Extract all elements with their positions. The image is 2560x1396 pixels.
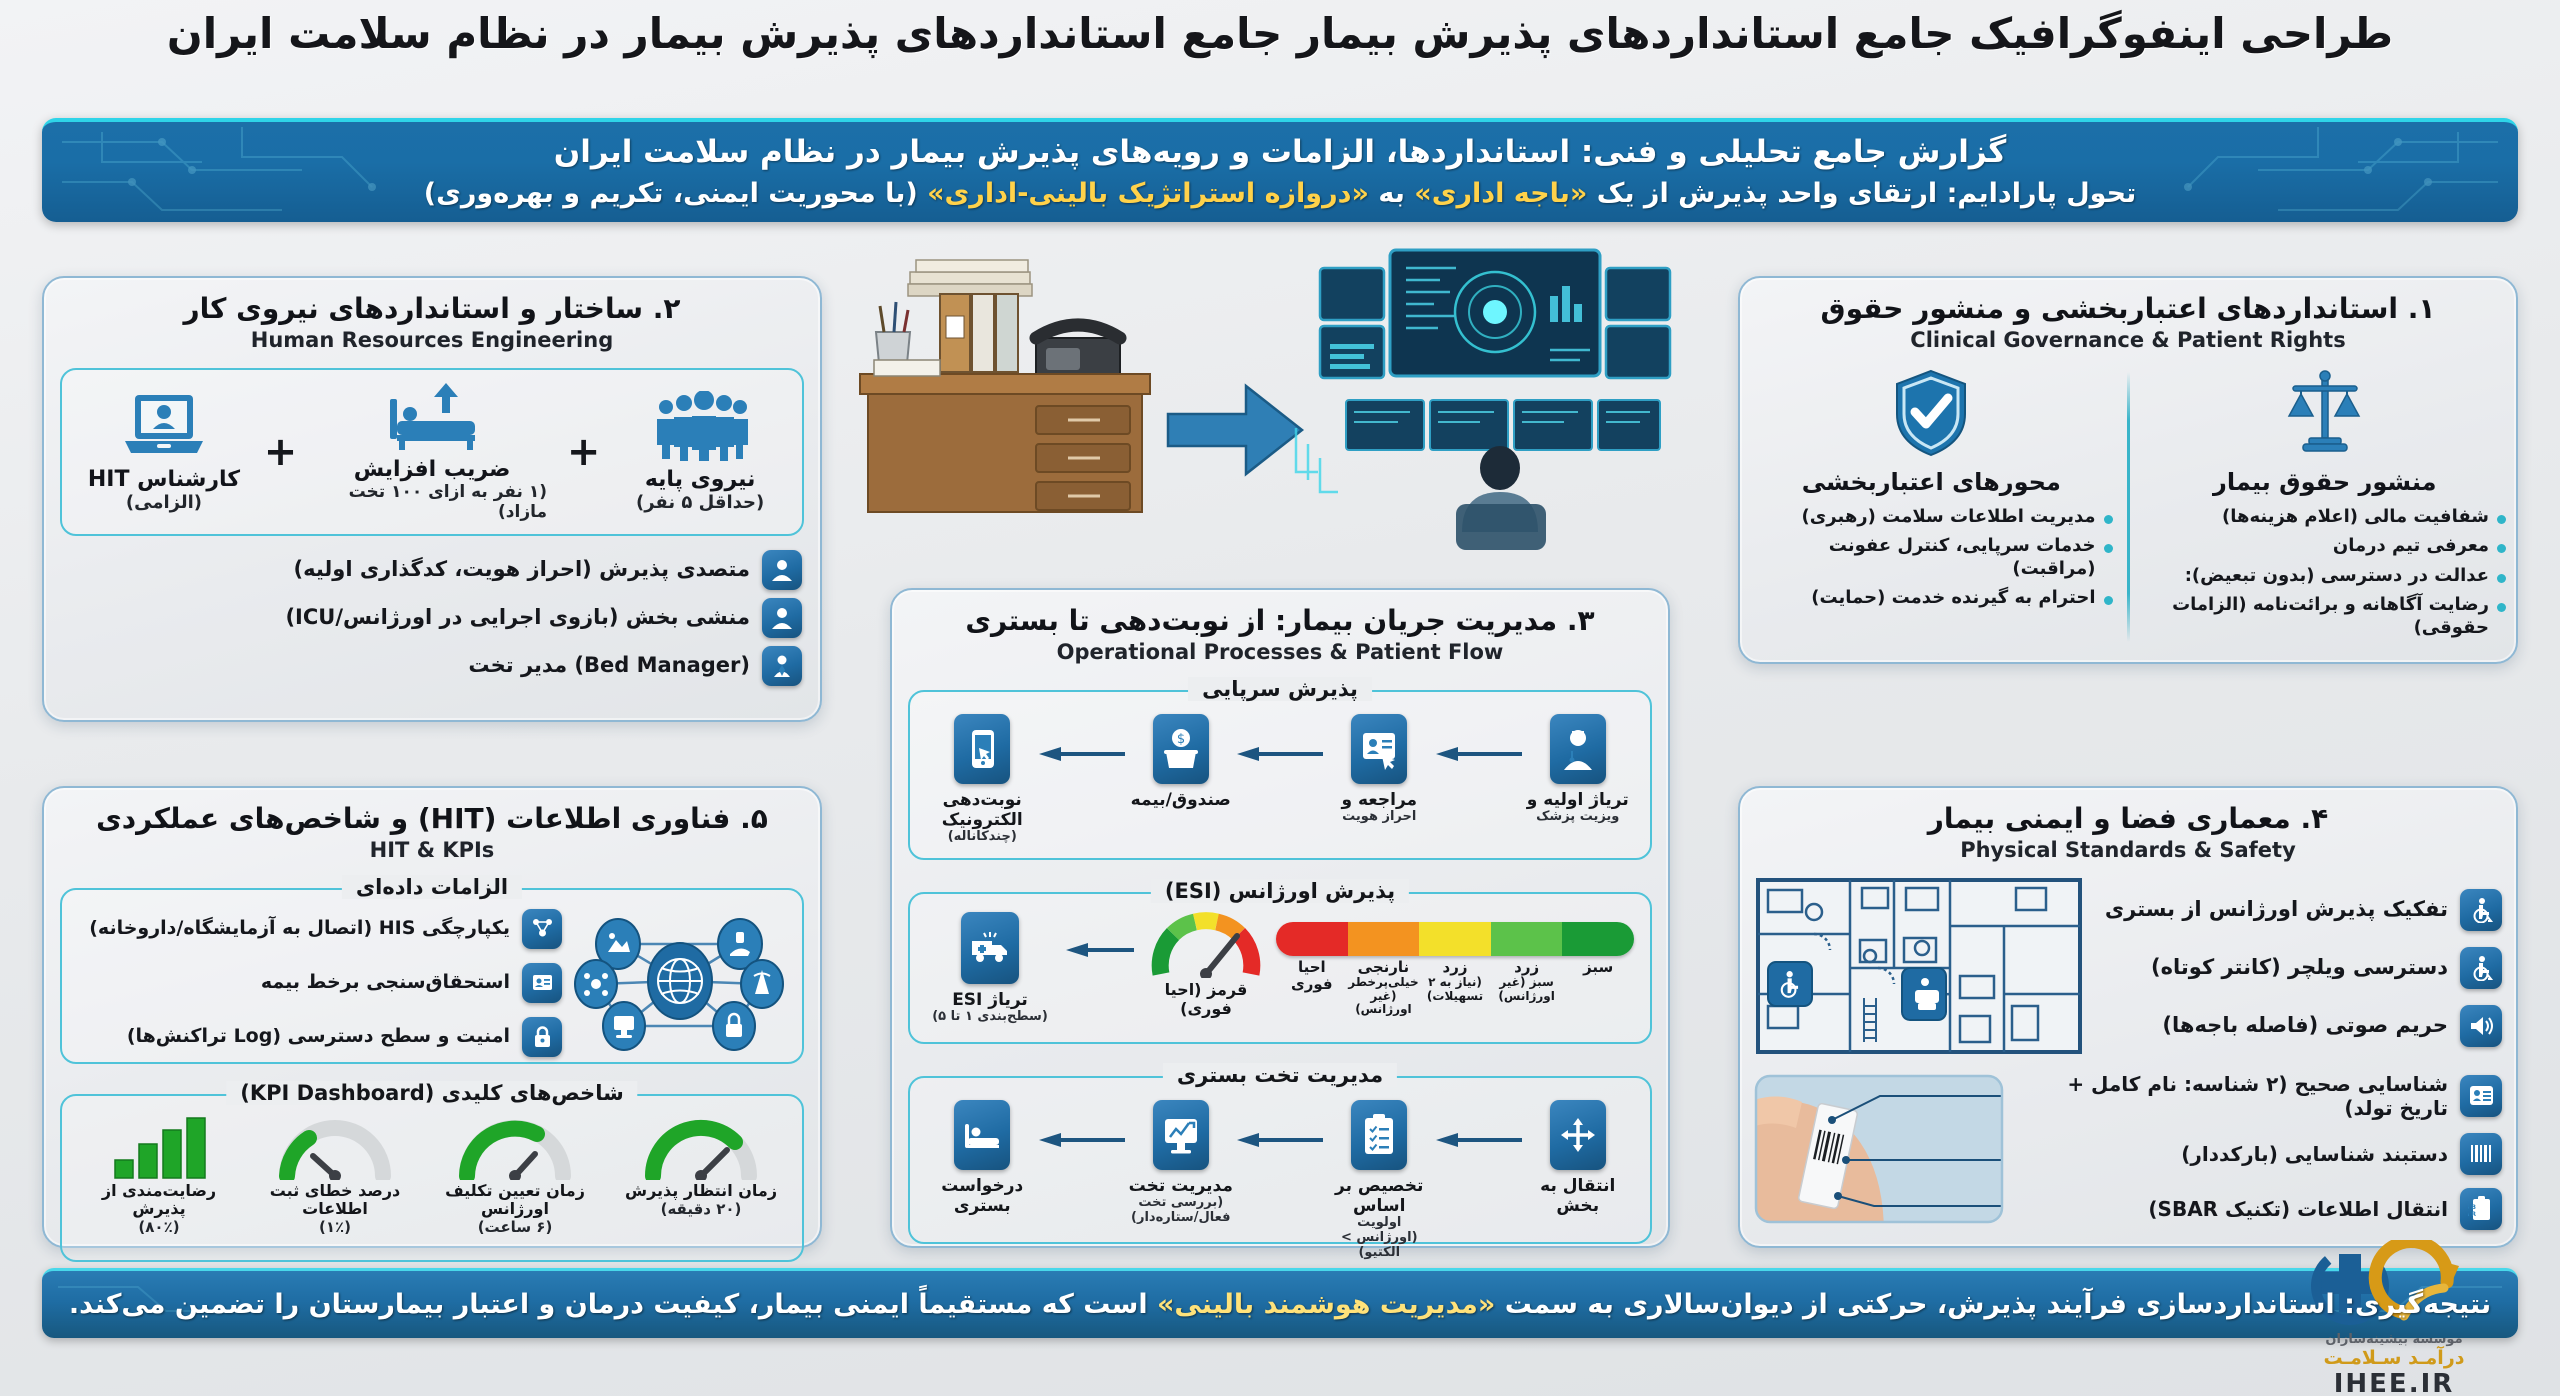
- section2-role-1-label: منشی بخش (بازوی اجرایی در اورژانس/ICU): [285, 605, 750, 630]
- card-section-5-hit-kpi: ۵. فناوری اطلاعات (HIT) و شاخص‌های عملکر…: [42, 786, 822, 1248]
- staffing-formula-panel: نیروی پایه (حداقل ۵ نفر) +: [60, 368, 804, 536]
- kpi-1-label: درصد خطای ثبت اطلاعات: [255, 1182, 415, 1219]
- section1-right-item-1: خدمات سرپایی، کنترل عفونت (مراقبت): [1750, 535, 2096, 580]
- section2-role-row-0: متصدی پذیرش (احراز هویت، کدگذاری اولیه): [62, 550, 802, 590]
- bed-management-legend: مدیریت تخت بستری: [1163, 1063, 1397, 1087]
- section1-subtitle: Clinical Governance & Patient Rights: [1740, 328, 2516, 352]
- section5-subtitle: HIT & KPIs: [44, 838, 820, 862]
- svg-text:S B: S B: [2468, 1204, 2476, 1211]
- bullet-dot-icon: [2497, 544, 2506, 553]
- section1-left-heading: منشور حقوق بیمار: [2213, 468, 2436, 496]
- section2-formula-2-label: کارشناس HIT: [88, 467, 240, 492]
- outpatient-step-2-label: مراجعه و: [1341, 790, 1417, 810]
- flow-step-identity: مراجعه و احراز هویت: [1325, 714, 1434, 825]
- section4-item-0-label: تفکیک پذیرش اورژانس از بستری: [2105, 897, 2448, 922]
- bullet-dot-icon: [2104, 515, 2113, 524]
- footer-text: نتیجه‌گیری: استانداردسازی فرآیند پذیرش، …: [69, 1289, 2491, 1320]
- header-l2-highlight-1: «باجه اداری»: [1414, 178, 1587, 209]
- laptop-user-icon: [121, 391, 207, 461]
- esi-label-0-main: احیا فوری: [1291, 958, 1333, 993]
- section2-subtitle: Human Resources Engineering: [44, 328, 820, 352]
- kpi-dashboard-panel: شاخص‌های کلیدی (KPI Dashboard) زمان انتظ…: [60, 1094, 804, 1262]
- footer-part-c: است که مستقیماً ایمنی بیمار، کیفیت درمان…: [69, 1289, 1157, 1320]
- kpi-item-ed-disposition: زمان تعیین تکلیف اورژانس (۶ ساعت): [429, 1116, 601, 1237]
- user-badge-icon: [762, 550, 802, 590]
- section1-right-item-2: احترام به گیرنده خدمت (حمایت): [1811, 587, 2095, 610]
- paper-stack-icon: [908, 260, 1032, 296]
- footer-highlight: «مدیریت هوشمند بالینی»: [1157, 1289, 1495, 1320]
- esi-label-2-main: زرد: [1443, 958, 1468, 976]
- monitor-chart-icon: [1162, 1115, 1200, 1155]
- section2-title: ۲. ساختار و استانداردهای نیروی کار: [44, 292, 820, 326]
- data-requirements-panel: الزامات داده‌ای: [60, 888, 804, 1064]
- list-item: احترام به گیرنده خدمت (حمایت): [1750, 587, 2113, 610]
- esi-gauge-label: قرمز (احیا فوری): [1146, 980, 1266, 1018]
- page-title: طراحی اینفوگرافیک جامع استانداردهای پذیر…: [0, 8, 2560, 61]
- svg-text:$: $: [1177, 732, 1185, 747]
- header-l2-part-c: به: [1369, 178, 1414, 209]
- section4-safety-2-label: انتقال اطلاعات (تکنیک SBAR): [2148, 1197, 2448, 1221]
- section2-role-row-2: مدیر تخت (Bed Manager): [62, 646, 802, 686]
- outpatient-step-0-sub: (چندکاناله): [948, 830, 1017, 845]
- section1-title: ۱. استانداردهای اعتباربخشی و منشور حقوق: [1740, 292, 2516, 326]
- kpi-item-satisfaction: رضایت‌مندی از پذیرش (۸۰٪): [77, 1116, 241, 1237]
- bed-step-1-sub: (بررسی تخت فعال/ستاره‌دار): [1127, 1196, 1236, 1226]
- section2-formula-1-sub: (۱ نفر به ازای ۱۰۰ تخت مازاد): [317, 482, 547, 522]
- esi-label-0: احیا فوری: [1276, 959, 1348, 1018]
- kpi-2-label: زمان تعیین تکلیف اورژانس: [429, 1182, 601, 1219]
- flow-step-e-appointment: نوبت‌دهی الکترونیک (چندکاناله): [928, 714, 1037, 846]
- wheelchair-icon: [2460, 947, 2502, 989]
- emergency-legend: پذیرش اورژانس (ESI): [1151, 879, 1409, 903]
- logo-institute-name: موسسه بیشینه‌سازان: [2264, 1332, 2524, 1347]
- shield-check-icon: [1885, 366, 1977, 458]
- svg-text:A R: A R: [2468, 1211, 2476, 1218]
- footer-banner: نتیجه‌گیری: استانداردسازی فرآیند پذیرش، …: [42, 1268, 2518, 1338]
- flow-step-admission-request: درخواست بستری: [928, 1100, 1037, 1217]
- section5-data-row-1: استحقاق‌سنجی برخط بیمه: [74, 963, 562, 1003]
- section2-formula-0-label: نیروی پایه: [645, 467, 756, 492]
- esi-source-label: تریاژ ESI: [952, 990, 1028, 1010]
- section4-subtitle: Physical Standards & Safety: [1740, 838, 2516, 862]
- kpi-gauge-icon: [459, 1116, 571, 1180]
- list-item: معرفی تیم درمان: [2144, 535, 2507, 558]
- scales-icon: [2279, 366, 2371, 458]
- bed-step-1-label: مدیریت تخت: [1129, 1176, 1233, 1196]
- flow-arrow-icon: [1037, 1132, 1127, 1148]
- outpatient-step-3-label: تریاژ اولیه و: [1527, 790, 1629, 810]
- kpi-0-label: رضایت‌مندی از پذیرش: [77, 1182, 241, 1219]
- esi-label-1: نارنجی خیلی‌پرخطر (غیر اورژانس): [1348, 959, 1420, 1018]
- transfer-arrows-icon: [1559, 1116, 1597, 1154]
- section1-left-item-3: رضایت آگاهانه و برائت‌نامه (الزامات حقوق…: [2144, 594, 2490, 639]
- section5-data-row-2: امنیت و سطح دسترسی (Log تراکنش‌ها): [74, 1017, 562, 1057]
- card-section-3-patient-flow: ۳. مدیریت جریان بیمار: از نوبت‌دهی تا بس…: [890, 588, 1670, 1248]
- esi-label-2: زرد (نیاز به ۲ تسهیلات): [1419, 959, 1491, 1018]
- digital-control-room-illustration: [1296, 250, 1670, 550]
- section4-safety-row-0: شناسایی صحیح (۲ شناسه: نام کامل + تاریخ …: [2014, 1072, 2502, 1120]
- bullet-dot-icon: [2497, 603, 2506, 612]
- section2-role-0-label: متصدی پذیرش (احراز هویت، کدگذاری اولیه): [293, 557, 750, 582]
- list-item: خدمات سرپایی، کنترل عفونت (مراقبت): [1750, 535, 2113, 580]
- bed-flow: انتقال به بخش تخصیص بر اساس ا: [910, 1100, 1650, 1262]
- flow-arrow-icon: [1434, 1132, 1524, 1148]
- bullet-dot-icon: [2497, 515, 2506, 524]
- kpi-dashboard-legend: شاخص‌های کلیدی (KPI Dashboard): [226, 1081, 637, 1105]
- section4-item-1-label: دسترسی ویلچر (کانتر کوتاه): [2151, 955, 2448, 980]
- kpi-0-sub: (۸۰٪): [138, 1218, 179, 1236]
- section3-title: ۳. مدیریت جریان بیمار: از نوبت‌دهی تا بس…: [892, 604, 1668, 638]
- esi-label-4-main: سبز: [1583, 958, 1613, 976]
- clipboard-sbar-icon: S BA R: [2460, 1188, 2502, 1230]
- esi-label-2-sub: (نیاز به ۲ تسهیلات): [1419, 976, 1491, 1004]
- outpatient-step-0-label: نوبت‌دهی الکترونیک: [928, 790, 1037, 831]
- esi-color-scale: [1276, 922, 1634, 956]
- flow-step-bed-management: مدیریت تخت (بررسی تخت فعال/ستاره‌دار): [1127, 1100, 1236, 1226]
- section1-right-item-0: مدیریت اطلاعات سلامت (رهبری): [1802, 506, 2096, 529]
- kpi-item-data-error: درصد خطای ثبت اطلاعات (۱٪): [255, 1116, 415, 1237]
- outpatient-flow: تریاژ اولیه و ویزیت پزشک: [910, 714, 1650, 846]
- section2-formula-1-label: ضریب افزایش: [354, 457, 511, 482]
- header-line-2: تحول پارادایم: ارتقای واحد پذیرش از یک «…: [42, 176, 2518, 211]
- flow-step-allocation: تخصیص بر اساس اولویت (اورژانس > الکتیو): [1325, 1100, 1434, 1262]
- kpi-3-label: زمان انتظار پذیرش: [625, 1182, 777, 1200]
- esi-seg-3: [1491, 922, 1563, 956]
- desk-illustration: [860, 360, 1150, 512]
- outpatient-legend: پذیرش سرپایی: [1188, 677, 1372, 701]
- esi-label-3-main: زرد: [1514, 958, 1539, 976]
- cash-register-icon: $: [1162, 726, 1200, 772]
- section4-item-2-label: حریم صوتی (فاصله باجه‌ها): [2162, 1013, 2448, 1038]
- esi-flow-arrow-icon: [1064, 942, 1136, 958]
- flow-arrow-icon: [1037, 746, 1127, 762]
- section4-safety-1-label: دستبند شناسایی (بارکددار): [2181, 1142, 2448, 1166]
- section3-subtitle: Operational Processes & Patient Flow: [892, 640, 1668, 664]
- vertical-divider: [2127, 372, 2130, 642]
- logo-tagline: درآمـد سـلامـت: [2264, 1347, 2524, 1369]
- doctor-icon: [1559, 726, 1597, 772]
- barcode-icon: [2460, 1133, 2502, 1175]
- logo-url: IHEE.IR: [2264, 1369, 2524, 1396]
- card-section-4-physical-standards: ۴. معماری فضا و ایمنی بیمار Physical Sta…: [1738, 786, 2518, 1248]
- flow-arrow-icon: [1434, 746, 1524, 762]
- esi-gauge-icon: [1151, 912, 1261, 978]
- section1-left-item-1: معرفی تیم درمان: [2333, 535, 2489, 558]
- header-l2-highlight-2: «دروازه استراتژیک بالینی-اداری»: [927, 178, 1369, 209]
- people-group-icon: [652, 391, 748, 461]
- bed-step-0-label: درخواست بستری: [928, 1176, 1037, 1217]
- section2-role-row-1: منشی بخش (بازوی اجرایی در اورژانس/ICU): [62, 598, 802, 638]
- emergency-esi-panel: پذیرش اورژانس (ESI) سبز: [908, 892, 1652, 1044]
- section4-title: ۴. معماری فضا و ایمنی بیمار: [1740, 802, 2516, 836]
- bullet-dot-icon: [2104, 544, 2113, 553]
- list-item: عدالت در دسترسی (بدون تبعیض):: [2144, 565, 2507, 588]
- outpatient-step-1-label: صندوق/بیمه: [1131, 790, 1231, 810]
- esi-label-1-sub: خیلی‌پرخطر (غیر اورژانس): [1348, 976, 1420, 1017]
- kpi-item-waiting-time: زمان انتظار پذیرش (۲۰ دقیقه): [615, 1116, 787, 1218]
- section1-right-heading: محورهای اعتباربخشی: [1802, 468, 2061, 496]
- bed-management-panel: مدیریت تخت بستری: [908, 1076, 1652, 1244]
- id-card-icon: [2460, 1075, 2502, 1117]
- section4-item-row-1: دسترسی ویلچر (کانتر کوتاه): [2096, 947, 2502, 989]
- esi-label-4: سبز: [1562, 959, 1634, 1018]
- section4-item-row-2: حریم صوتی (فاصله باجه‌ها): [2096, 1005, 2502, 1047]
- bed-step-2-label: تخصیص بر اساس: [1325, 1176, 1434, 1217]
- card-section-1-clinical-governance: ۱. استانداردهای اعتباربخشی و منشور حقوق …: [1738, 276, 2518, 664]
- insurance-card-icon: [522, 963, 562, 1003]
- esi-label-3-sub: سبز (غیر اورژانس): [1491, 976, 1563, 1004]
- outpatient-flow-panel: پذیرش سرپایی تریاژ اولیه و ویزیت پزشک: [908, 690, 1652, 860]
- kpi-3-sub: (۲۰ دقیقه): [661, 1200, 742, 1218]
- lock-icon: [522, 1017, 562, 1057]
- id-card-cursor-icon: [1360, 726, 1398, 772]
- transformation-arrow-icon: [1168, 386, 1302, 474]
- outpatient-step-3-sub: ویزیت پزشک: [1536, 810, 1619, 825]
- section4-safety-row-1: دستبند شناسایی (بارکددار): [2014, 1133, 2502, 1175]
- bed-icon: [962, 1118, 1002, 1152]
- speaker-icon: [2460, 1005, 2502, 1047]
- list-item: شفافیت مالی (اعلام هزینه‌ها): [2144, 506, 2507, 529]
- bullet-dot-icon: [2104, 596, 2113, 605]
- bed-step-3-label: انتقال به بخش: [1524, 1176, 1633, 1217]
- transformation-illustration: [850, 232, 1730, 552]
- kpi-gauge-icon: [645, 1116, 757, 1180]
- list-item: مدیریت اطلاعات سلامت (رهبری): [1750, 506, 2113, 529]
- mobile-tap-icon: [963, 726, 1001, 772]
- ambulance-icon: [961, 912, 1019, 984]
- network-diagram-illustration: [570, 906, 790, 1060]
- data-nodes-icon: [522, 909, 562, 949]
- esi-seg-2: [1419, 922, 1491, 956]
- section5-data-row-0: یکپارچگی HIS (اتصال به آزمایشگاه/داروخان…: [74, 909, 562, 949]
- flow-arrow-icon: [1235, 1132, 1325, 1148]
- header-l2-part-e: (با محوریت ایمنی، تکریم و بهره‌وری): [424, 178, 927, 209]
- wheelchair-icon: [2460, 889, 2502, 931]
- plus-sign-2: +: [264, 429, 298, 475]
- esi-seg-4: [1562, 922, 1634, 956]
- footer-part-a: نتیجه‌گیری: استانداردسازی فرآیند پذیرش، …: [1495, 1289, 2491, 1320]
- card-section-2-human-resources: ۲. ساختار و استانداردهای نیروی کار Human…: [42, 276, 822, 722]
- section2-formula-2-sub: (الزامی): [126, 492, 202, 513]
- header-banner: گزارش جامع تحلیلی و فنی: استانداردها، ال…: [42, 118, 2518, 222]
- section5-data-2-label: امنیت و سطح دسترسی (Log تراکنش‌ها): [127, 1025, 510, 1048]
- flow-step-cashier-insurance: $ صندوق/بیمه: [1127, 714, 1236, 810]
- section2-formula-0-sub: (حداقل ۵ نفر): [636, 492, 764, 513]
- header-line-1: گزارش جامع تحلیلی و فنی: استانداردها، ال…: [42, 132, 2518, 174]
- section5-data-0-label: یکپارچگی HIS (اتصال به آزمایشگاه/داروخان…: [89, 917, 510, 940]
- section2-role-2-label: مدیر تخت (Bed Manager): [468, 653, 750, 678]
- esi-seg-1: [1348, 922, 1420, 956]
- section4-item-row-0: تفکیک پذیرش اورژانس از بستری: [2096, 889, 2502, 931]
- user-tie-icon: [762, 646, 802, 686]
- wristband-illustration: [1754, 1074, 2004, 1228]
- binders-icon: [940, 294, 1018, 372]
- plus-sign-1: +: [567, 429, 601, 475]
- floorplan-illustration: [1754, 876, 2084, 1060]
- flow-arrow-icon: [1235, 746, 1325, 762]
- esi-label-1-main: نارنجی: [1358, 958, 1410, 976]
- bullet-dot-icon: [2497, 574, 2506, 583]
- section1-left-item-2: عدالت در دسترسی (بدون تبعیض):: [2185, 565, 2489, 588]
- esi-label-3: زرد سبز (غیر اورژانس): [1491, 959, 1563, 1018]
- user-badge-icon: [762, 598, 802, 638]
- section4-safety-row-2: S BA R انتقال اطلاعات (تکنیک SBAR): [2014, 1188, 2502, 1230]
- section5-data-1-label: استحقاق‌سنجی برخط بیمه: [261, 971, 510, 994]
- list-item: رضایت آگاهانه و برائت‌نامه (الزامات حقوق…: [2144, 594, 2507, 639]
- section4-safety-0-label: شناسایی صحیح (۲ شناسه: نام کامل + تاریخ …: [2014, 1072, 2448, 1120]
- data-requirements-legend: الزامات داده‌ای: [342, 875, 522, 899]
- kpi-2-sub: (۶ ساعت): [478, 1218, 553, 1236]
- bed-up-arrow-icon: [382, 381, 482, 451]
- outpatient-step-2-sub: احراز هویت: [1342, 810, 1416, 825]
- flow-step-triage-visit: تریاژ اولیه و ویزیت پزشک: [1524, 714, 1633, 825]
- esi-seg-0: [1276, 922, 1348, 956]
- kpi-bar-chart-icon: [109, 1116, 209, 1180]
- flow-step-transfer-ward: انتقال به بخش: [1524, 1100, 1633, 1217]
- clipboard-check-icon: [1360, 1112, 1398, 1158]
- section1-left-item-0: شفافیت مالی (اعلام هزینه‌ها): [2222, 506, 2489, 529]
- section5-title: ۵. فناوری اطلاعات (HIT) و شاخص‌های عملکر…: [44, 802, 820, 836]
- kpi-1-sub: (۱٪): [319, 1218, 351, 1236]
- esi-source-sub: (سطح‌بندی ۱ تا ۵): [932, 1010, 1048, 1025]
- header-l2-part-a: تحول پارادایم: ارتقای واحد پذیرش از یک: [1587, 178, 2136, 209]
- kpi-gauge-icon: [279, 1116, 391, 1180]
- telephone-icon: [1036, 325, 1120, 378]
- bed-step-2-sub: اولویت (اورژانس > الکتیو): [1325, 1216, 1434, 1261]
- operator-silhouette: [1456, 446, 1546, 550]
